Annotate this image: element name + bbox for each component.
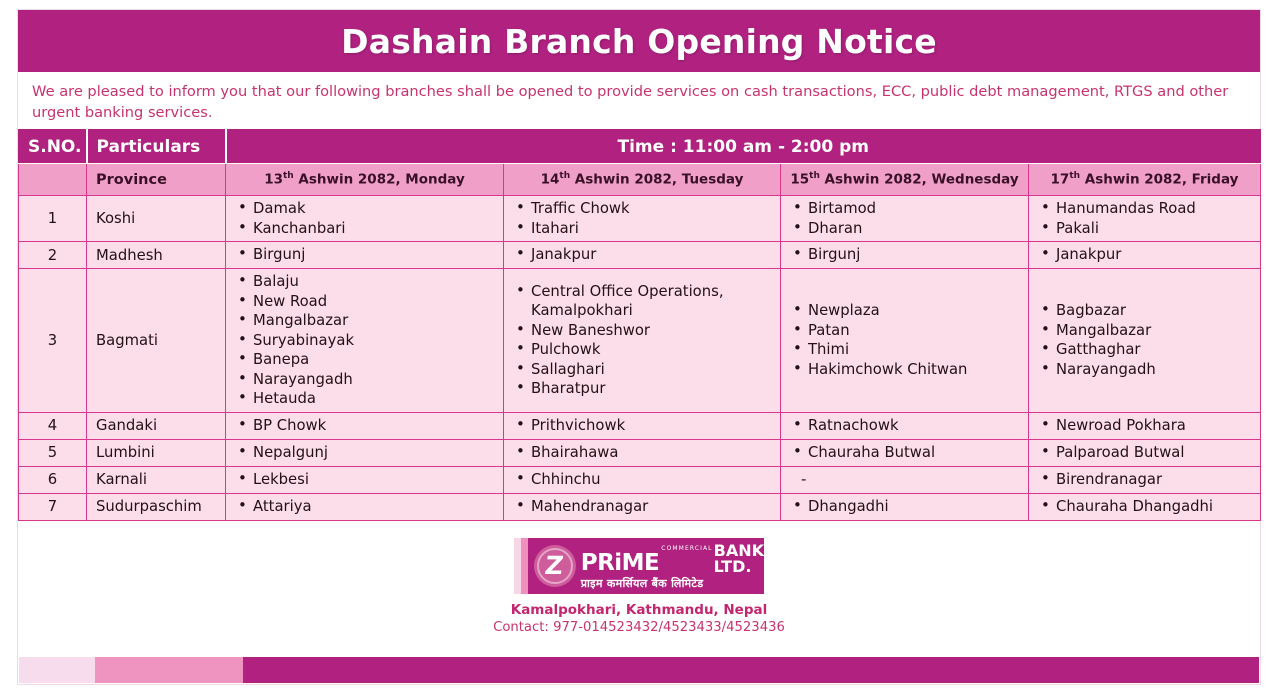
branch-item: Pulchowk <box>514 340 774 360</box>
table-row: 2MadheshBirgunjJanakpurBirgunjJanakpur <box>19 242 1261 269</box>
cell-branches-day-4: Newroad Pokhara <box>1029 412 1261 439</box>
table-body: 1KoshiDamakKanchanbariTraffic ChowkItaha… <box>19 196 1261 521</box>
branch-list: Chauraha Dhangadhi <box>1039 497 1254 517</box>
branch-item: Birendranagar <box>1039 470 1254 490</box>
branch-item: Hetauda <box>236 389 497 409</box>
cell-branches-day-3: BirtamodDharan <box>781 196 1029 242</box>
bottom-bar-light <box>19 657 95 683</box>
branch-none: - <box>791 471 1022 488</box>
header-day-1-num: 13 <box>264 172 283 188</box>
branch-list: DamakKanchanbari <box>236 199 497 238</box>
bottom-bar-dark <box>243 657 1259 683</box>
branch-item: Birgunj <box>791 245 1022 265</box>
notice-paragraph: We are pleased to inform you that our fo… <box>18 72 1260 129</box>
table-header-row-top: S.NO. Particulars Time : 11:00 am - 2:00… <box>19 130 1261 164</box>
branch-list: Traffic ChowkItahari <box>514 199 774 238</box>
branch-item: Hakimchowk Chitwan <box>791 360 1022 380</box>
logo-stripe-light <box>514 538 521 594</box>
branch-list: Nepalgunj <box>236 443 497 463</box>
branch-item: Suryabinayak <box>236 331 497 351</box>
cell-branches-day-2: Chhinchu <box>504 466 781 493</box>
branch-item: Banepa <box>236 350 497 370</box>
branch-list: Birgunj <box>236 245 497 265</box>
branch-item: Newroad Pokhara <box>1039 416 1254 436</box>
cell-province: Lumbini <box>87 439 226 466</box>
header-sno: S.NO. <box>19 130 87 164</box>
branch-item: Bagbazar <box>1039 301 1254 321</box>
branch-item: Damak <box>236 199 497 219</box>
cell-branches-day-4: BagbazarMangalbazarGatthagharNarayangadh <box>1029 269 1261 413</box>
cell-province: Gandaki <box>87 412 226 439</box>
table-row: 4GandakiBP ChowkPrithvichowkRatnachowkNe… <box>19 412 1261 439</box>
header-day-2-num: 14 <box>541 172 560 188</box>
footer: Z PRiME COMMERCIAL BANK LTD. प्राइम कमर्… <box>18 521 1260 658</box>
branch-item: Nepalgunj <box>236 443 497 463</box>
branch-item: Traffic Chowk <box>514 199 774 219</box>
cell-branches-day-4: Chauraha Dhangadhi <box>1029 493 1261 520</box>
header-day-4: 17th Ashwin 2082, Friday <box>1029 164 1261 196</box>
branch-item: New Road <box>236 292 497 312</box>
branch-list: Bhairahawa <box>514 443 774 463</box>
branch-list: Birendranagar <box>1039 470 1254 490</box>
logo-text: PRiME COMMERCIAL BANK LTD. प्राइम कमर्सि… <box>576 543 764 589</box>
branch-list: Attariya <box>236 497 497 517</box>
cell-branches-day-1: Nepalgunj <box>226 439 504 466</box>
branch-item: Chhinchu <box>514 470 774 490</box>
cell-branches-day-1: BP Chowk <box>226 412 504 439</box>
branch-item: Bhairahawa <box>514 443 774 463</box>
logo-emblem-icon: Z <box>534 545 576 587</box>
cell-sno: 1 <box>19 196 87 242</box>
header-day-4-sup: th <box>1069 171 1080 181</box>
header-day-1-rest: Ashwin 2082, Monday <box>294 172 465 188</box>
bottom-bar-medium <box>95 657 243 683</box>
table-row: 6KarnaliLekbesiChhinchu-Birendranagar <box>19 466 1261 493</box>
cell-branches-day-2: Traffic ChowkItahari <box>504 196 781 242</box>
branch-item: Patan <box>791 321 1022 341</box>
branch-list: Janakpur <box>1039 245 1254 265</box>
bottom-color-bar <box>19 657 1259 683</box>
branch-list: Central Office Operations,KamalpokhariNe… <box>514 282 774 399</box>
header-province: Province <box>87 164 226 196</box>
cell-branches-day-3: Ratnachowk <box>781 412 1029 439</box>
cell-branches-day-3: Chauraha Butwal <box>781 439 1029 466</box>
branch-item: Birtamod <box>791 199 1022 219</box>
branch-item: Palparoad Butwal <box>1039 443 1254 463</box>
branch-item: Thimi <box>791 340 1022 360</box>
header-day-3-rest: Ashwin 2082, Wednesday <box>820 172 1019 188</box>
logo-text-row-1: PRiME COMMERCIAL BANK LTD. <box>581 543 764 575</box>
branch-list: BP Chowk <box>236 416 497 436</box>
table-row: 5LumbiniNepalgunjBhairahawaChauraha Butw… <box>19 439 1261 466</box>
cell-branches-day-3: Dhangadhi <box>781 493 1029 520</box>
header-day-4-rest: Ashwin 2082, Friday <box>1080 172 1238 188</box>
header-day-3-num: 15 <box>790 172 809 188</box>
footer-contact: Contact: 977-014523432/4523433/4523436 <box>493 620 785 635</box>
branch-item: Pakali <box>1039 219 1254 239</box>
title-banner: Dashain Branch Opening Notice <box>18 10 1260 72</box>
logo-z-glyph-icon: Z <box>543 553 567 579</box>
cell-sno: 7 <box>19 493 87 520</box>
header-day-3: 15th Ashwin 2082, Wednesday <box>781 164 1029 196</box>
branch-list: Lekbesi <box>236 470 497 490</box>
cell-branches-day-1: DamakKanchanbari <box>226 196 504 242</box>
cell-province: Sudurpaschim <box>87 493 226 520</box>
branch-list: Dhangadhi <box>791 497 1022 517</box>
page-title: Dashain Branch Opening Notice <box>341 22 937 61</box>
branch-item: Janakpur <box>514 245 774 265</box>
branch-item: Gatthaghar <box>1039 340 1254 360</box>
cell-branches-day-4: Birendranagar <box>1029 466 1261 493</box>
branch-list: Birgunj <box>791 245 1022 265</box>
branch-item: Chauraha Dhangadhi <box>1039 497 1254 517</box>
branch-list: Prithvichowk <box>514 416 774 436</box>
cell-branches-day-1: Birgunj <box>226 242 504 269</box>
branch-item: Mangalbazar <box>1039 321 1254 341</box>
branch-list: Palparoad Butwal <box>1039 443 1254 463</box>
cell-province: Madhesh <box>87 242 226 269</box>
cell-branches-day-4: Hanumandas RoadPakali <box>1029 196 1261 242</box>
cell-branches-day-4: Palparoad Butwal <box>1029 439 1261 466</box>
branch-list: Newroad Pokhara <box>1039 416 1254 436</box>
header-day-2-sup: th <box>559 171 570 181</box>
cell-branches-day-1: BalajuNew RoadMangalbazarSuryabinayakBan… <box>226 269 504 413</box>
cell-branches-day-2: Central Office Operations,KamalpokhariNe… <box>504 269 781 413</box>
cell-sno: 2 <box>19 242 87 269</box>
cell-branches-day-2: Janakpur <box>504 242 781 269</box>
branch-item: Sallaghari <box>514 360 774 380</box>
branch-item: Bharatpur <box>514 379 774 399</box>
branch-list: Chhinchu <box>514 470 774 490</box>
branch-list: Hanumandas RoadPakali <box>1039 199 1254 238</box>
branch-item: Central Office Operations, <box>514 282 774 302</box>
cell-branches-day-4: Janakpur <box>1029 242 1261 269</box>
logo-body: Z PRiME COMMERCIAL BANK LTD. प्राइम कमर्… <box>528 538 764 594</box>
logo-prime: PRiME <box>581 552 660 575</box>
header-day-2-rest: Ashwin 2082, Tuesday <box>570 172 743 188</box>
branch-item: Kamalpokhari <box>514 301 774 321</box>
branch-item: Chauraha Butwal <box>791 443 1022 463</box>
header-time: Time : 11:00 am - 2:00 pm <box>226 130 1261 164</box>
branch-item: Mangalbazar <box>236 311 497 331</box>
branch-item: Narayangadh <box>1039 360 1254 380</box>
logo-commercial: COMMERCIAL <box>661 546 712 552</box>
cell-branches-day-2: Bhairahawa <box>504 439 781 466</box>
branch-list: BirtamodDharan <box>791 199 1022 238</box>
branch-item: Kanchanbari <box>236 219 497 239</box>
branch-list: NewplazaPatanThimiHakimchowk Chitwan <box>791 301 1022 379</box>
cell-province: Karnali <box>87 466 226 493</box>
branch-list: Chauraha Butwal <box>791 443 1022 463</box>
cell-branches-day-2: Mahendranagar <box>504 493 781 520</box>
branch-item: Janakpur <box>1039 245 1254 265</box>
notice-page: Dashain Branch Opening Notice We are ple… <box>17 9 1261 685</box>
cell-branches-day-2: Prithvichowk <box>504 412 781 439</box>
cell-branches-day-3: Birgunj <box>781 242 1029 269</box>
cell-province: Koshi <box>87 196 226 242</box>
header-day-2: 14th Ashwin 2082, Tuesday <box>504 164 781 196</box>
branch-item: Itahari <box>514 219 774 239</box>
branch-item: Lekbesi <box>236 470 497 490</box>
cell-sno: 5 <box>19 439 87 466</box>
cell-sno: 4 <box>19 412 87 439</box>
branch-list: Mahendranagar <box>514 497 774 517</box>
branch-item: Hanumandas Road <box>1039 199 1254 219</box>
cell-branches-day-3: - <box>781 466 1029 493</box>
branch-item: Balaju <box>236 272 497 292</box>
branch-item: Prithvichowk <box>514 416 774 436</box>
branch-item: Newplaza <box>791 301 1022 321</box>
branch-item: Dharan <box>791 219 1022 239</box>
branch-item: Attariya <box>236 497 497 517</box>
branch-item: Narayangadh <box>236 370 497 390</box>
header-day-3-sup: th <box>809 171 820 181</box>
branch-item: BP Chowk <box>236 416 497 436</box>
branch-item: Dhangadhi <box>791 497 1022 517</box>
logo-bank-ltd: BANK LTD. <box>714 543 764 575</box>
cell-sno: 3 <box>19 269 87 413</box>
table-row: 1KoshiDamakKanchanbariTraffic ChowkItaha… <box>19 196 1261 242</box>
branch-item: Ratnachowk <box>791 416 1022 436</box>
header-day-1-sup: th <box>283 171 294 181</box>
branch-item: Mahendranagar <box>514 497 774 517</box>
branch-list: Janakpur <box>514 245 774 265</box>
cell-branches-day-1: Attariya <box>226 493 504 520</box>
cell-province: Bagmati <box>87 269 226 413</box>
branch-list: BagbazarMangalbazarGatthagharNarayangadh <box>1039 301 1254 379</box>
branch-item: New Baneshwor <box>514 321 774 341</box>
table-row: 3BagmatiBalajuNew RoadMangalbazarSuryabi… <box>19 269 1261 413</box>
table-header-row-sub: Province 13th Ashwin 2082, Monday 14th A… <box>19 164 1261 196</box>
branch-list: BalajuNew RoadMangalbazarSuryabinayakBan… <box>236 272 497 409</box>
header-sno-blank <box>19 164 87 196</box>
branch-schedule-table: S.NO. Particulars Time : 11:00 am - 2:00… <box>18 129 1261 521</box>
cell-branches-day-1: Lekbesi <box>226 466 504 493</box>
header-particulars: Particulars <box>87 130 226 164</box>
header-day-1: 13th Ashwin 2082, Monday <box>226 164 504 196</box>
cell-sno: 6 <box>19 466 87 493</box>
logo-stripe-medium <box>521 538 528 594</box>
table-row: 7SudurpaschimAttariyaMahendranagarDhanga… <box>19 493 1261 520</box>
prime-bank-logo: Z PRiME COMMERCIAL BANK LTD. प्राइम कमर्… <box>514 538 764 594</box>
branch-item: Birgunj <box>236 245 497 265</box>
header-day-4-num: 17 <box>1051 172 1070 188</box>
logo-devanagari: प्राइम कमर्सियल बैंक लिमिटेड <box>581 578 764 589</box>
branch-list: Ratnachowk <box>791 416 1022 436</box>
cell-branches-day-3: NewplazaPatanThimiHakimchowk Chitwan <box>781 269 1029 413</box>
footer-address: Kamalpokhari, Kathmandu, Nepal <box>511 602 768 618</box>
